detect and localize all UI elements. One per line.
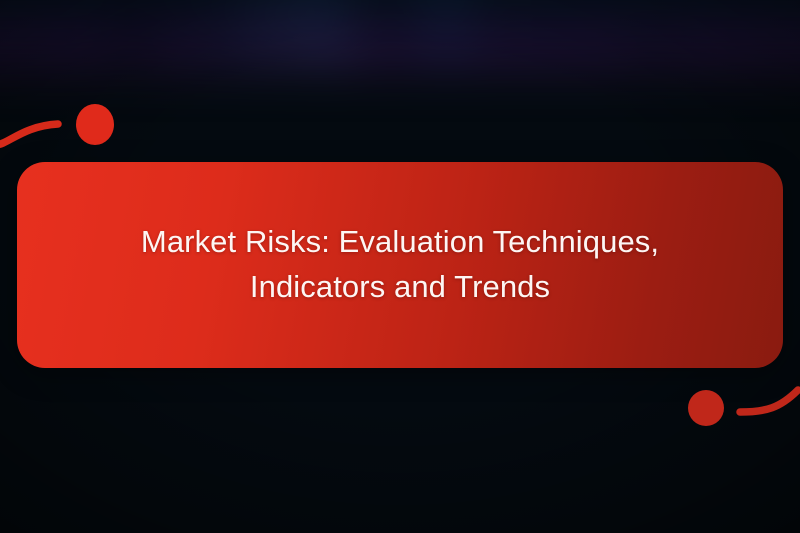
arc-bottom-right-icon (736, 386, 800, 424)
dot-bottom-right-icon (688, 390, 724, 426)
article-banner: Market Risks: Evaluation Techniques, Ind… (0, 0, 800, 533)
page-title: Market Risks: Evaluation Techniques, Ind… (95, 220, 705, 309)
title-card: Market Risks: Evaluation Techniques, Ind… (17, 162, 783, 368)
arc-top-left-icon (0, 112, 66, 150)
dot-top-left-icon (76, 104, 114, 145)
